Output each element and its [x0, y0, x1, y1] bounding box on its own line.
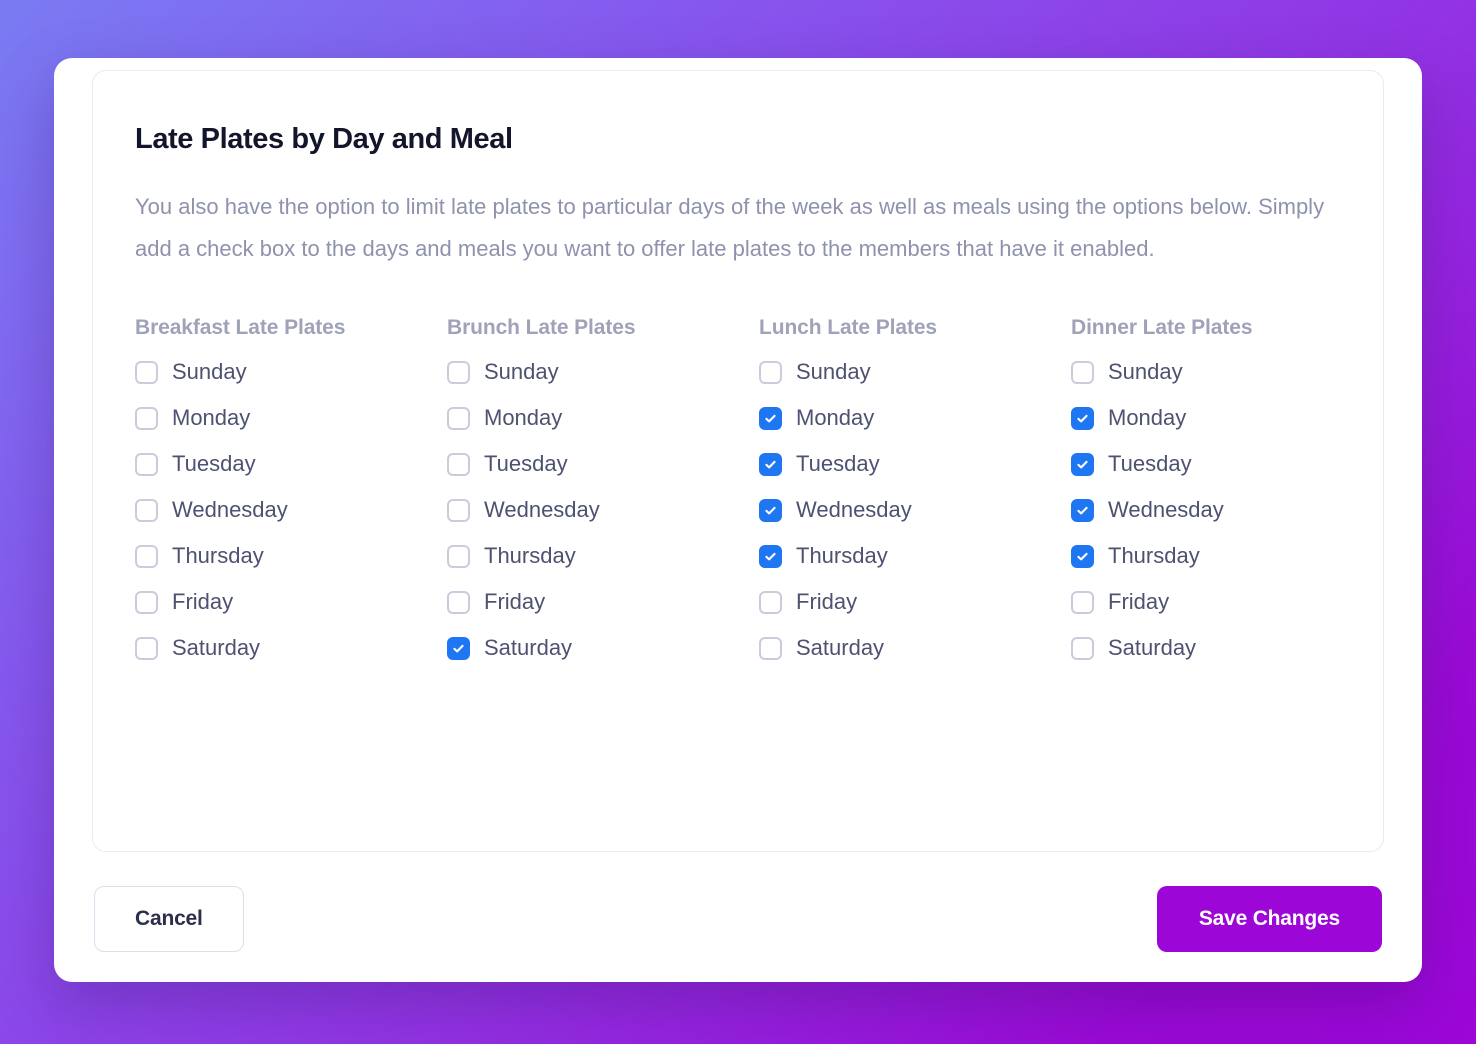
- day-checkbox-row[interactable]: Thursday: [135, 543, 447, 569]
- checkbox-unchecked-icon[interactable]: [135, 407, 158, 430]
- late-plates-panel: Late Plates by Day and Meal You also hav…: [92, 70, 1384, 852]
- day-label: Tuesday: [1108, 451, 1192, 477]
- day-label: Sunday: [172, 359, 247, 385]
- checkbox-checked-icon[interactable]: [1071, 499, 1094, 522]
- checkbox-unchecked-icon[interactable]: [447, 407, 470, 430]
- day-label: Thursday: [1108, 543, 1200, 569]
- day-label: Tuesday: [484, 451, 568, 477]
- day-checkbox-row[interactable]: Monday: [759, 405, 1071, 431]
- day-checkbox-row[interactable]: Sunday: [135, 359, 447, 385]
- cancel-button[interactable]: Cancel: [94, 886, 244, 952]
- day-checkbox-row[interactable]: Friday: [1071, 589, 1383, 615]
- day-label: Sunday: [1108, 359, 1183, 385]
- day-label: Thursday: [796, 543, 888, 569]
- day-options-list: SundayMondayTuesdayWednesdayThursdayFrid…: [1071, 359, 1383, 661]
- day-label: Saturday: [796, 635, 884, 661]
- column-header: Breakfast Late Plates: [135, 310, 365, 345]
- checkbox-checked-icon[interactable]: [759, 499, 782, 522]
- checkbox-checked-icon[interactable]: [759, 407, 782, 430]
- checkbox-unchecked-icon[interactable]: [759, 637, 782, 660]
- panel-description: You also have the option to limit late p…: [135, 186, 1335, 270]
- day-checkbox-row[interactable]: Saturday: [759, 635, 1071, 661]
- day-checkbox-row[interactable]: Sunday: [759, 359, 1071, 385]
- late-plates-modal: Late Plates by Day and Meal You also hav…: [54, 58, 1422, 982]
- column-header: Lunch Late Plates: [759, 310, 989, 345]
- checkbox-checked-icon[interactable]: [1071, 545, 1094, 568]
- meal-columns: Breakfast Late PlatesSundayMondayTuesday…: [135, 310, 1341, 661]
- checkbox-unchecked-icon[interactable]: [135, 499, 158, 522]
- day-label: Thursday: [172, 543, 264, 569]
- day-checkbox-row[interactable]: Tuesday: [759, 451, 1071, 477]
- day-label: Wednesday: [172, 497, 288, 523]
- day-label: Tuesday: [796, 451, 880, 477]
- day-label: Friday: [796, 589, 857, 615]
- day-checkbox-row[interactable]: Friday: [447, 589, 759, 615]
- day-checkbox-row[interactable]: Friday: [759, 589, 1071, 615]
- day-checkbox-row[interactable]: Saturday: [135, 635, 447, 661]
- checkbox-unchecked-icon[interactable]: [447, 591, 470, 614]
- checkbox-unchecked-icon[interactable]: [1071, 637, 1094, 660]
- day-checkbox-row[interactable]: Friday: [135, 589, 447, 615]
- day-label: Monday: [796, 405, 874, 431]
- day-label: Friday: [1108, 589, 1169, 615]
- day-label: Sunday: [484, 359, 559, 385]
- checkbox-unchecked-icon[interactable]: [135, 591, 158, 614]
- day-label: Wednesday: [796, 497, 912, 523]
- day-options-list: SundayMondayTuesdayWednesdayThursdayFrid…: [759, 359, 1071, 661]
- day-checkbox-row[interactable]: Saturday: [1071, 635, 1383, 661]
- meal-column: Dinner Late PlatesSundayMondayTuesdayWed…: [1071, 310, 1383, 661]
- day-label: Thursday: [484, 543, 576, 569]
- day-options-list: SundayMondayTuesdayWednesdayThursdayFrid…: [447, 359, 759, 661]
- day-label: Friday: [172, 589, 233, 615]
- day-checkbox-row[interactable]: Sunday: [1071, 359, 1383, 385]
- day-checkbox-row[interactable]: Tuesday: [447, 451, 759, 477]
- day-checkbox-row[interactable]: Thursday: [759, 543, 1071, 569]
- day-label: Friday: [484, 589, 545, 615]
- checkbox-unchecked-icon[interactable]: [447, 361, 470, 384]
- day-label: Saturday: [1108, 635, 1196, 661]
- page-title: Late Plates by Day and Meal: [135, 123, 1341, 156]
- column-header: Brunch Late Plates: [447, 310, 677, 345]
- checkbox-unchecked-icon[interactable]: [447, 499, 470, 522]
- day-checkbox-row[interactable]: Monday: [1071, 405, 1383, 431]
- day-checkbox-row[interactable]: Monday: [135, 405, 447, 431]
- day-label: Monday: [484, 405, 562, 431]
- checkbox-unchecked-icon[interactable]: [447, 545, 470, 568]
- day-checkbox-row[interactable]: Saturday: [447, 635, 759, 661]
- meal-column: Brunch Late PlatesSundayMondayTuesdayWed…: [447, 310, 759, 661]
- checkbox-unchecked-icon[interactable]: [1071, 361, 1094, 384]
- day-checkbox-row[interactable]: Wednesday: [759, 497, 1071, 523]
- save-changes-button[interactable]: Save Changes: [1157, 886, 1382, 952]
- checkbox-checked-icon[interactable]: [447, 637, 470, 660]
- day-label: Tuesday: [172, 451, 256, 477]
- day-checkbox-row[interactable]: Sunday: [447, 359, 759, 385]
- day-label: Saturday: [172, 635, 260, 661]
- day-checkbox-row[interactable]: Thursday: [447, 543, 759, 569]
- checkbox-checked-icon[interactable]: [759, 545, 782, 568]
- checkbox-unchecked-icon[interactable]: [135, 637, 158, 660]
- meal-column: Lunch Late PlatesSundayMondayTuesdayWedn…: [759, 310, 1071, 661]
- checkbox-unchecked-icon[interactable]: [447, 453, 470, 476]
- checkbox-unchecked-icon[interactable]: [135, 545, 158, 568]
- day-checkbox-row[interactable]: Wednesday: [447, 497, 759, 523]
- checkbox-checked-icon[interactable]: [759, 453, 782, 476]
- day-label: Saturday: [484, 635, 572, 661]
- checkbox-unchecked-icon[interactable]: [1071, 591, 1094, 614]
- day-checkbox-row[interactable]: Tuesday: [1071, 451, 1383, 477]
- day-options-list: SundayMondayTuesdayWednesdayThursdayFrid…: [135, 359, 447, 661]
- day-label: Sunday: [796, 359, 871, 385]
- checkbox-unchecked-icon[interactable]: [759, 361, 782, 384]
- day-checkbox-row[interactable]: Thursday: [1071, 543, 1383, 569]
- day-checkbox-row[interactable]: Wednesday: [135, 497, 447, 523]
- checkbox-checked-icon[interactable]: [1071, 407, 1094, 430]
- day-label: Monday: [1108, 405, 1186, 431]
- day-checkbox-row[interactable]: Monday: [447, 405, 759, 431]
- checkbox-checked-icon[interactable]: [1071, 453, 1094, 476]
- checkbox-unchecked-icon[interactable]: [759, 591, 782, 614]
- checkbox-unchecked-icon[interactable]: [135, 361, 158, 384]
- day-label: Wednesday: [484, 497, 600, 523]
- day-checkbox-row[interactable]: Tuesday: [135, 451, 447, 477]
- column-header: Dinner Late Plates: [1071, 310, 1301, 345]
- checkbox-unchecked-icon[interactable]: [135, 453, 158, 476]
- modal-footer: Cancel Save Changes: [92, 886, 1384, 952]
- day-checkbox-row[interactable]: Wednesday: [1071, 497, 1383, 523]
- meal-column: Breakfast Late PlatesSundayMondayTuesday…: [135, 310, 447, 661]
- day-label: Monday: [172, 405, 250, 431]
- day-label: Wednesday: [1108, 497, 1224, 523]
